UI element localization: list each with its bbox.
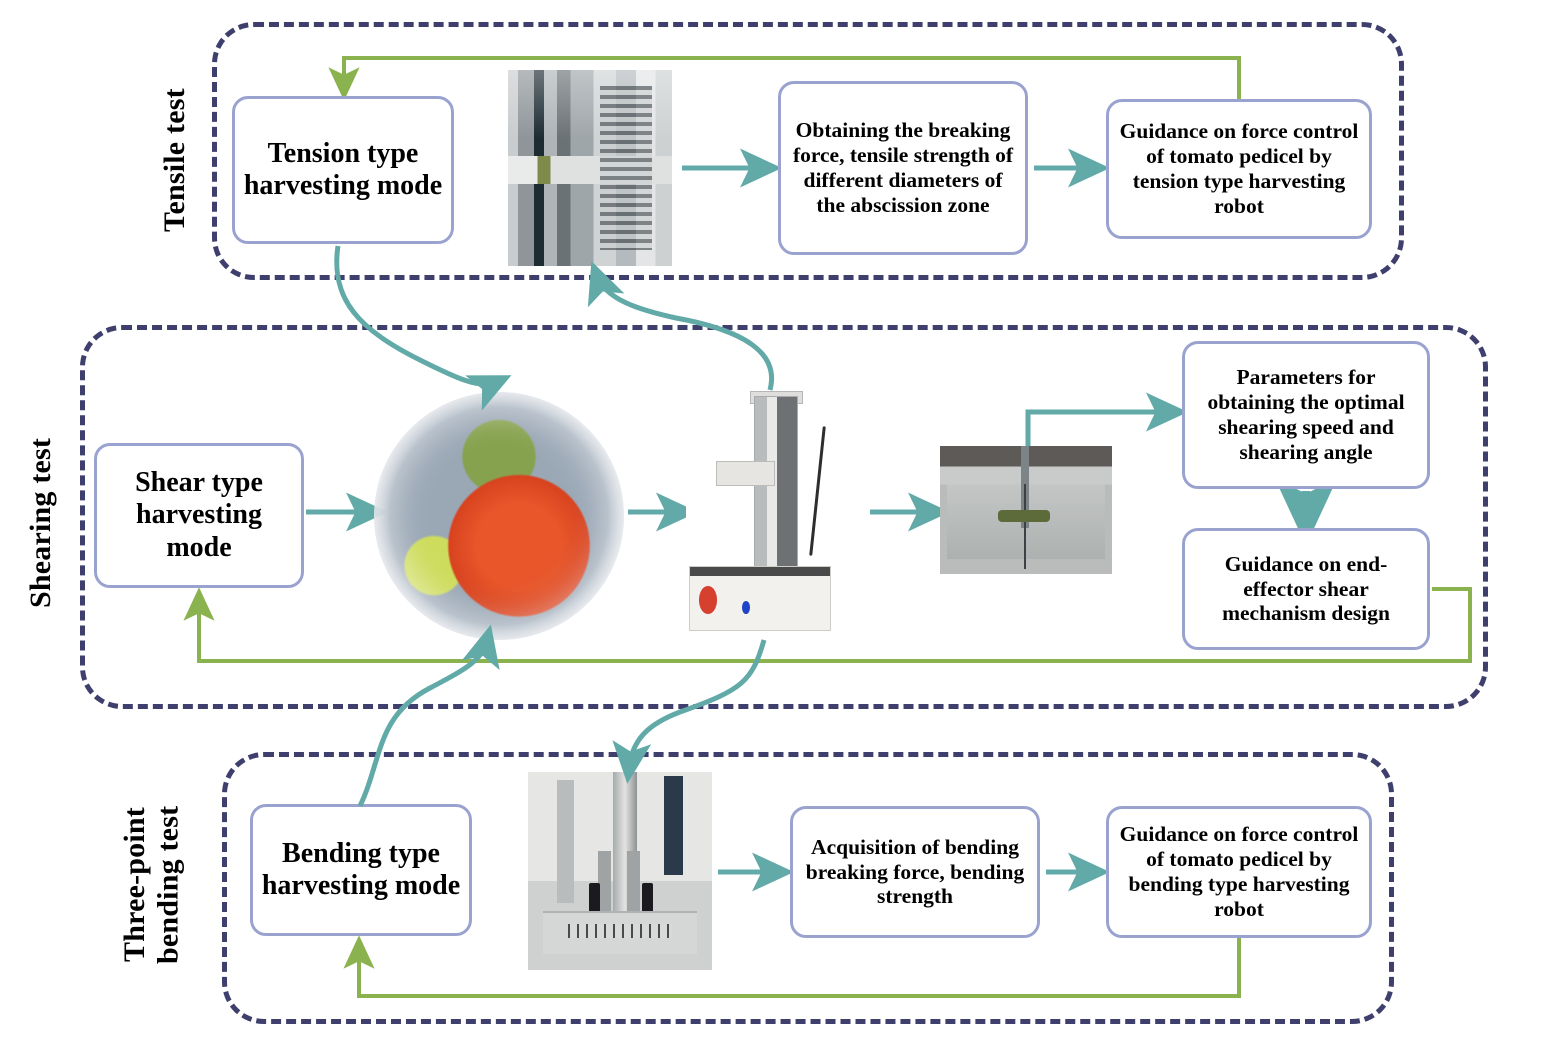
- section-label-tensile-test: Tensile test: [158, 60, 206, 260]
- three-point-bending-photo: [528, 772, 712, 970]
- section-label-bending-test: Three-pointbending test: [118, 770, 214, 1000]
- utm-blue-button: [742, 601, 750, 614]
- node-bending-guidance[interactable]: Guidance on force control of tomato pedi…: [1106, 806, 1372, 938]
- shear-fixture-photo: [940, 446, 1112, 574]
- bend-support-ruler: [568, 924, 671, 938]
- shear-blade: [1024, 484, 1026, 568]
- universal-testing-machine-photo: [686, 386, 834, 636]
- tomato-on-vine-photo: [374, 392, 624, 640]
- node-tensile-result[interactable]: Obtaining the breaking force, tensile st…: [778, 81, 1028, 255]
- utm-crosshead: [716, 461, 775, 486]
- node-shearing-parameters[interactable]: Parameters for obtaining the optimal she…: [1182, 341, 1430, 489]
- bend-post-left: [557, 780, 574, 903]
- node-tension-type-harvesting-mode[interactable]: Tension type harvesting mode: [232, 96, 454, 244]
- tensile-grip-photo: [508, 70, 672, 266]
- section-label-bending-line1: Three-pointbending test: [118, 806, 185, 964]
- bend-post-right: [664, 776, 682, 875]
- flowchart-canvas: Tensile test Shearing test Three-pointbe…: [0, 0, 1548, 1051]
- node-tensile-guidance[interactable]: Guidance on force control of tomato pedi…: [1106, 99, 1372, 239]
- node-shearing-guidance[interactable]: Guidance on end-effector shear mechanism…: [1182, 528, 1430, 650]
- utm-cable: [809, 426, 826, 556]
- section-label-shearing-test: Shearing test: [24, 418, 72, 628]
- node-shear-type-harvesting-mode[interactable]: Shear type harvesting mode: [94, 443, 304, 588]
- utm-emergency-stop-button: [699, 586, 717, 614]
- node-bending-result[interactable]: Acquisition of bending breaking force, b…: [790, 806, 1040, 938]
- node-bending-type-harvesting-mode[interactable]: Bending type harvesting mode: [250, 804, 472, 936]
- pedicel-sample: [998, 510, 1050, 522]
